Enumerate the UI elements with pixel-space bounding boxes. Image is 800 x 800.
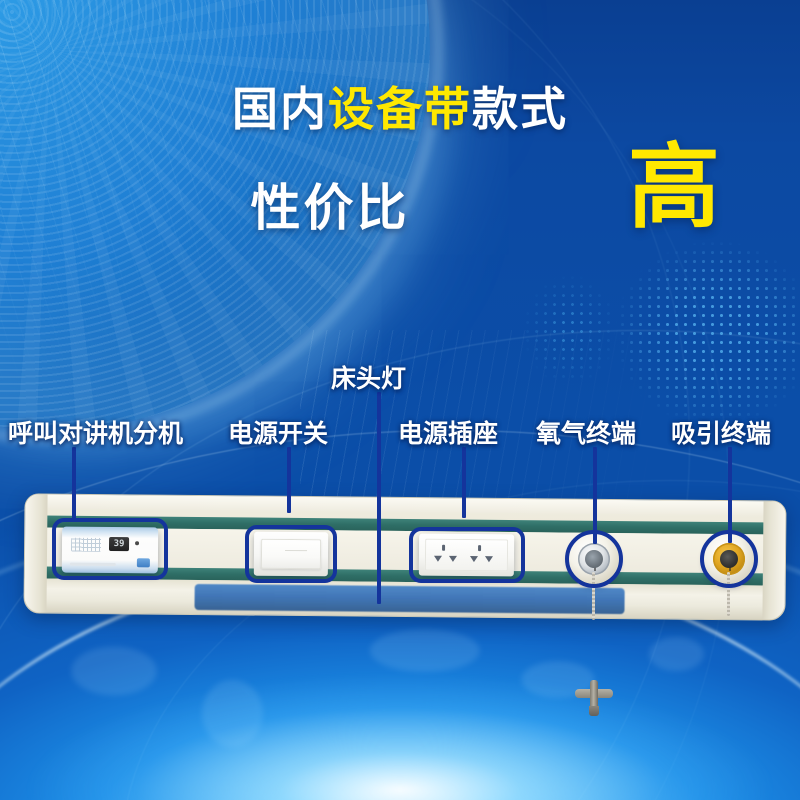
- highlight-circle-oxygen: [565, 530, 623, 588]
- callout-label-call-intercom: 呼叫对讲机分机: [8, 414, 183, 450]
- panel-lower-rail: [24, 578, 784, 619]
- pull-cord-handle[interactable]: [575, 680, 613, 714]
- callout-label-power-switch: 电源开关: [228, 414, 328, 450]
- leader-line-bed-lamp: [377, 392, 381, 604]
- panel-left-end-cap: [24, 494, 47, 612]
- callout-label-oxygen-outlet: 氧气终端: [536, 414, 636, 450]
- highlight-circle-suction: [700, 530, 758, 588]
- leader-line-call-intercom: [72, 447, 76, 522]
- leader-line-power-switch: [287, 447, 291, 513]
- handle-tip: [589, 706, 599, 716]
- highlight-box-power-switch: [245, 525, 337, 583]
- leader-line-power-socket: [462, 447, 466, 518]
- callout-label-power-socket: 电源插座: [398, 414, 498, 450]
- callout-label-bed-lamp: 床头灯: [331, 359, 406, 395]
- panel-blue-insert: [194, 584, 624, 614]
- highlight-box-call-intercom: [52, 518, 168, 580]
- leader-line-suction-outlet: [728, 447, 732, 543]
- highlight-box-power-socket: [409, 527, 525, 583]
- panel-right-end-cap: [762, 501, 785, 619]
- dot-matrix-world-map: [505, 255, 635, 405]
- product-banner: 国内设备带款式 性价比 高 呼叫对讲机分机 电源开关 床头灯 电源插座 氧气终端…: [0, 0, 800, 800]
- callout-label-suction-outlet: 吸引终端: [671, 414, 771, 450]
